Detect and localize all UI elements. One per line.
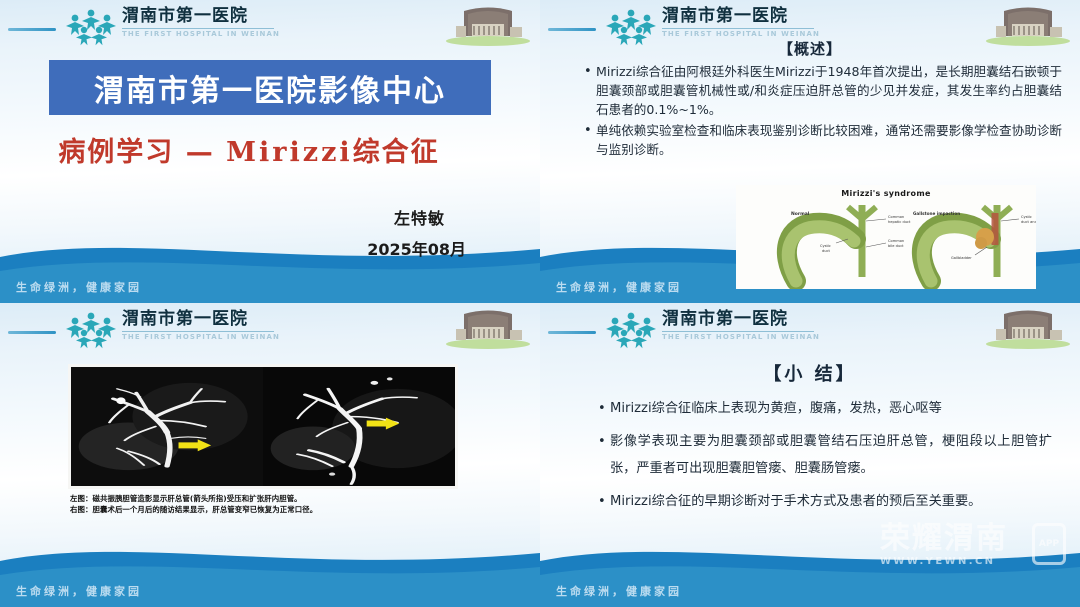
header-dash-icon	[548, 331, 596, 334]
svg-text:Gallbladder: Gallbladder	[951, 256, 972, 260]
bullet-text: Mirizzi综合征由阿根廷外科医生Mirizzi于1948年首次提出，是长期胆…	[596, 62, 1062, 119]
people-star-logo-icon	[602, 311, 660, 349]
hospital-name-block: 渭南市第一医院 THE FIRST HOSPITAL IN WEINAN	[122, 309, 280, 341]
list-item: • Mirizzi综合征由阿根廷外科医生Mirizzi于1948年首次提出，是长…	[584, 62, 1062, 119]
list-item: • Mirizzi综合征的早期诊断对于手术方式及患者的预后至关重要。	[598, 488, 1052, 515]
slide-summary: 渭南市第一医院 THE FIRST HOSPITAL IN WEINAN	[540, 303, 1080, 607]
bullet-text: 影像学表现主要为胆囊颈部或胆囊管结石压迫肝总管，梗阻段以上胆管扩张，严重者可出现…	[610, 428, 1052, 482]
svg-text:Cystic: Cystic	[820, 244, 831, 248]
svg-text:Normal: Normal	[791, 211, 810, 217]
header-rule	[122, 28, 274, 29]
header-dash-icon	[8, 331, 56, 334]
svg-text:duct: duct	[822, 249, 831, 253]
center-title-text: 渭南市第一医院影像中心	[94, 66, 446, 110]
mrcp-image-left	[71, 367, 263, 486]
caption-line: 左图：磁共振胰胆管造影显示肝总管(箭头所指)受压和扩张肝内胆管。	[70, 493, 456, 504]
people-star-logo-icon	[62, 8, 120, 46]
hospital-building-icon	[982, 305, 1074, 349]
slide-title: 渭南市第一医院 THE FIRST HOSPITAL IN WEINAN	[0, 0, 540, 303]
hospital-name-cn: 渭南市第一医院	[122, 309, 280, 330]
section-heading: 【概述】	[540, 38, 1080, 59]
header-rule	[122, 331, 274, 332]
subtitle-suffix: 综合征	[353, 137, 440, 168]
slide-subtitle: 病例学习 — Mirizzi综合征	[0, 130, 498, 169]
hospital-name-cn: 渭南市第一医院	[662, 309, 820, 330]
mrcp-image-pair	[68, 364, 458, 489]
bullet-text: Mirizzi综合征的早期诊断对于手术方式及患者的预后至关重要。	[610, 488, 1052, 515]
hospital-name-en: THE FIRST HOSPITAL IN WEINAN	[122, 30, 280, 38]
footer-slogan: 生命绿洲，健康家园	[16, 583, 142, 599]
rongyao-weinan-watermark: 荣耀渭南 WWW.YEWN.CN APP	[880, 523, 1066, 577]
svg-text:bile duct: bile duct	[888, 244, 904, 248]
header-dash-icon	[8, 28, 56, 31]
footer-slogan: 生命绿洲，健康家园	[16, 279, 142, 295]
author-name: 左特敏	[394, 205, 445, 229]
watermark-app-badge: APP	[1032, 523, 1066, 565]
bullet-list: • Mirizzi综合征临床上表现为黄疸，腹痛，发热，恶心呕等 • 影像学表现主…	[598, 395, 1052, 521]
bullet-dot-icon: •	[584, 62, 596, 119]
slide-mrcp: 渭南市第一医院 THE FIRST HOSPITAL IN WEINAN	[0, 303, 540, 607]
subtitle-prefix: 病例学习 —	[58, 137, 226, 168]
footer-slogan: 生命绿洲，健康家园	[556, 279, 682, 295]
hospital-name-en: THE FIRST HOSPITAL IN WEINAN	[122, 333, 280, 341]
hospital-building-icon	[442, 305, 534, 349]
hospital-name-cn: 渭南市第一医院	[662, 6, 820, 27]
hospital-name-block: 渭南市第一医院 THE FIRST HOSPITAL IN WEINAN	[662, 309, 820, 341]
bullet-dot-icon: •	[598, 488, 610, 515]
svg-text:Common: Common	[888, 215, 904, 219]
mrcp-image-right	[263, 367, 455, 486]
list-item: • 单纯依赖实验室检查和临床表现鉴别诊断比较困难，通常还需要影像学检查协助诊断与…	[584, 121, 1062, 159]
hospital-name-block: 渭南市第一医院 THE FIRST HOSPITAL IN WEINAN	[122, 6, 280, 38]
slide-header: 渭南市第一医院 THE FIRST HOSPITAL IN WEINAN	[540, 303, 1080, 355]
bullet-text: 单纯依赖实验室检查和临床表现鉴别诊断比较困难，通常还需要影像学检查协助诊断与监别…	[596, 121, 1062, 159]
hospital-name-en: THE FIRST HOSPITAL IN WEINAN	[662, 30, 820, 38]
bullet-dot-icon: •	[584, 121, 596, 159]
hospital-name-cn: 渭南市第一医院	[122, 6, 280, 27]
slide-header: 渭南市第一医院 THE FIRST HOSPITAL IN WEINAN	[0, 303, 540, 355]
hospital-building-icon	[442, 2, 534, 46]
caption-line: 右图：胆囊术后一个月后的随访结果显示，肝总管变窄已恢复为正常口径。	[70, 504, 456, 515]
mirizzi-anatomy-diagram: Mirizzi's syndrome Normal Common hepatic…	[736, 185, 1036, 289]
bullet-dot-icon: •	[598, 428, 610, 482]
header-rule	[662, 331, 814, 332]
svg-text:hepatic duct: hepatic duct	[888, 220, 911, 224]
bullet-dot-icon: •	[598, 395, 610, 422]
svg-text:duct and: duct and	[1021, 220, 1036, 224]
svg-text:Gallstone impaction: Gallstone impaction	[913, 211, 960, 216]
people-star-logo-icon	[62, 311, 120, 349]
slide-grid: 渭南市第一医院 THE FIRST HOSPITAL IN WEINAN	[0, 0, 1080, 607]
header-rule	[662, 28, 814, 29]
subtitle-latin: Mirizzi	[226, 137, 353, 168]
section-heading: 【小 结】	[540, 360, 1080, 386]
figure-caption: 左图：磁共振胰胆管造影显示肝总管(箭头所指)受压和扩张肝内胆管。 右图：胆囊术后…	[70, 493, 456, 515]
svg-text:Common: Common	[888, 239, 904, 243]
header-dash-icon	[548, 28, 596, 31]
slide-overview: 渭南市第一医院 THE FIRST HOSPITAL IN WEINAN	[540, 0, 1080, 303]
bullet-text: Mirizzi综合征临床上表现为黄疸，腹痛，发热，恶心呕等	[610, 395, 1052, 422]
slide-header: 渭南市第一医院 THE FIRST HOSPITAL IN WEINAN	[0, 0, 540, 52]
bullet-list: • Mirizzi综合征由阿根廷外科医生Mirizzi于1948年首次提出，是长…	[584, 62, 1062, 161]
svg-text:Cystic: Cystic	[1021, 215, 1032, 219]
list-item: • Mirizzi综合征临床上表现为黄疸，腹痛，发热，恶心呕等	[598, 395, 1052, 422]
footer-slogan: 生命绿洲，健康家园	[556, 583, 682, 599]
presentation-date: 2025年08月	[367, 236, 466, 260]
center-title-band: 渭南市第一医院影像中心	[49, 60, 491, 115]
hospital-name-block: 渭南市第一医院 THE FIRST HOSPITAL IN WEINAN	[662, 6, 820, 38]
hospital-name-en: THE FIRST HOSPITAL IN WEINAN	[662, 333, 820, 341]
list-item: • 影像学表现主要为胆囊颈部或胆囊管结石压迫肝总管，梗阻段以上胆管扩张，严重者可…	[598, 428, 1052, 482]
